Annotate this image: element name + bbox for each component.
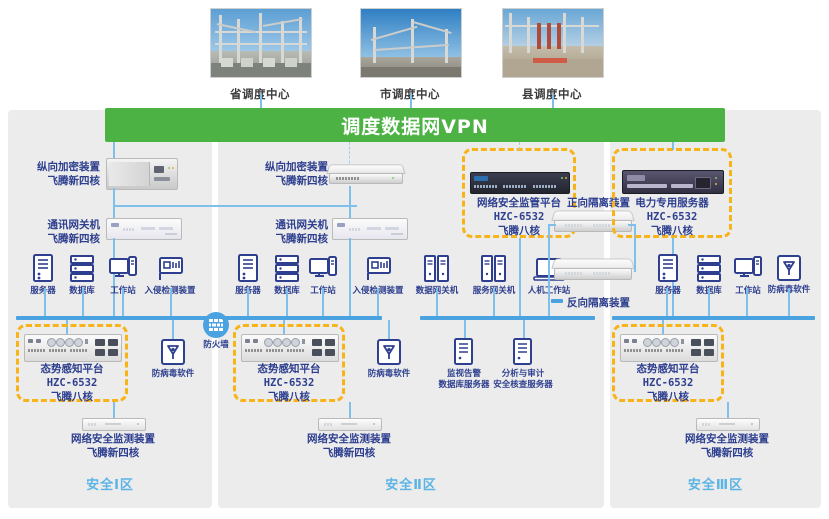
zone2-platform-appliance <box>241 334 339 362</box>
zone2-icon-service-gateway: 服务网关机 <box>480 254 520 297</box>
zone3-monitor-label: 网络安全监测装置 飞腾新四核 <box>667 432 787 460</box>
substation-photo <box>502 8 604 78</box>
zone3-icon-workstation: 工作站 <box>733 254 765 297</box>
workstation-icon <box>108 254 138 284</box>
connector-line <box>436 288 438 316</box>
server-icon <box>511 338 535 366</box>
zone1-icon-workstation: 工作站 <box>108 254 140 297</box>
connector-line <box>322 288 324 316</box>
connector-line <box>122 288 124 316</box>
dispatch-center-provincial: 省调度中心 <box>210 8 330 102</box>
server-icon <box>235 254 261 284</box>
zone1-gateway-label: 通讯网关机 飞腾新四核 <box>22 218 100 246</box>
zone1-platform-label: 态势感知平台 HZC-6532 飞腾八核 <box>16 362 128 405</box>
workstation-icon <box>308 254 338 284</box>
reverse-isolation-appliance <box>553 258 633 280</box>
zone1-encryptor-chassis <box>106 158 178 190</box>
connector-line <box>519 238 521 316</box>
zone3-icon-server: 服务器 <box>655 254 683 297</box>
zone1-gateway-appliance <box>106 218 182 240</box>
zone2-icon-ids: 入侵检测装置 <box>363 254 404 297</box>
antivirus-icon <box>375 338 403 366</box>
server-icon <box>452 338 476 366</box>
workstation-icon <box>733 254 763 284</box>
zone1-encryptor-label: 纵向加密装置 飞腾新四核 <box>22 160 100 188</box>
zone2-monitor-appliance <box>318 418 382 431</box>
zone2-bus-left <box>222 316 382 320</box>
zone3-platform-label: 态势感知平台 HZC-6532 飞腾八核 <box>612 362 724 405</box>
zone3-power-server-label: 电力专用服务器 HZC-6532 飞腾八核 <box>612 196 732 239</box>
zone2-alarm-db-server: 监视告警 数据库服务器 <box>452 338 493 390</box>
icon-label: 防病毒软件 <box>147 369 199 380</box>
dispatch-center-municipal: 市调度中心 <box>360 8 480 102</box>
icon-label: 服务器 <box>653 286 683 297</box>
connector-line <box>44 288 46 316</box>
icon-label: 防病毒软件 <box>363 369 415 380</box>
connector-line <box>672 142 674 150</box>
zone2-platform-label: 态势感知平台 HZC-6532 飞腾八核 <box>233 362 345 405</box>
server-icon <box>655 254 681 284</box>
connector-line <box>523 320 525 340</box>
zone3-monitor-appliance <box>696 418 760 431</box>
database-icon <box>273 254 301 284</box>
icon-label-alarm: 监视告警 数据库服务器 <box>435 369 493 390</box>
connector-line <box>82 288 84 316</box>
substation-photo <box>210 8 312 78</box>
zone1-monitor-label: 网络安全监测装置 飞腾新四核 <box>53 432 173 460</box>
connector-line <box>666 288 668 316</box>
connector-line <box>349 205 357 207</box>
vpn-bar: 调度数据网VPN <box>105 108 725 142</box>
database-icon <box>423 254 451 284</box>
database-icon <box>68 254 96 284</box>
zone1-monitor-appliance <box>82 418 146 431</box>
database-icon <box>695 254 723 284</box>
zone2-antivirus: 防病毒软件 <box>375 338 415 380</box>
zone-title-1: 安全Ⅰ区 <box>8 474 212 493</box>
connector-line <box>388 320 390 340</box>
ids-icon <box>363 254 393 284</box>
icon-label: 工作站 <box>731 286 765 297</box>
connector-line <box>170 288 172 316</box>
interzone-link <box>113 205 349 207</box>
zone2-icon-database: 数据库 <box>273 254 303 297</box>
zone1-antivirus: 防病毒软件 <box>159 338 199 380</box>
zone1-bus <box>16 316 208 320</box>
connector-line <box>493 288 495 316</box>
connector-line <box>464 320 466 340</box>
database-icon <box>480 254 508 284</box>
connector-line <box>708 288 710 316</box>
connector-line <box>349 238 351 316</box>
connector-line <box>377 288 379 316</box>
connector-line <box>172 320 174 340</box>
connector-line <box>113 188 115 220</box>
zone-title-3: 安全Ⅲ区 <box>610 474 821 493</box>
zone1-icon-ids: 入侵检测装置 <box>155 254 196 297</box>
dispatch-center-county: 县调度中心 <box>502 8 622 102</box>
connector-line-dashed <box>519 142 520 150</box>
zone3-power-server-appliance <box>622 170 724 194</box>
antivirus-icon <box>159 338 187 366</box>
zone2-bus-right <box>420 316 595 320</box>
zone2-monitor-label: 网络安全监测装置 飞腾新四核 <box>289 432 409 460</box>
zone3-icon-database: 数据库 <box>695 254 725 297</box>
substation-photo <box>360 8 462 78</box>
server-icon <box>30 254 56 284</box>
zone2-icon-data-gateway: 数据网关机 <box>423 254 463 297</box>
ids-icon <box>155 254 185 284</box>
zone2-audit-server: 分析与审计 安全核查服务器 <box>511 338 556 390</box>
zone2-gateway-appliance <box>332 218 408 240</box>
icon-label: 服务器 <box>28 286 58 297</box>
antivirus-icon <box>775 254 803 282</box>
zone2-icon-server: 服务器 <box>235 254 263 297</box>
connector-line <box>746 288 748 316</box>
connector-line <box>349 186 351 220</box>
connector-line <box>548 224 550 301</box>
icon-label-audit: 分析与审计 安全核查服务器 <box>490 369 556 390</box>
connector-line <box>247 288 249 316</box>
zone2-supervision-appliance <box>470 172 570 194</box>
reverse-isolation-label: 反向隔离装置 <box>567 296 657 310</box>
zone1-platform-appliance <box>24 334 122 362</box>
zone2-icon-workstation: 工作站 <box>308 254 340 297</box>
zone3-platform-appliance <box>620 334 718 362</box>
zone3-icon-antivirus: 防病毒软件 <box>775 254 815 296</box>
zone2-encryptor-label: 纵向加密装置 飞腾新四核 <box>250 160 328 188</box>
connector-line <box>788 288 790 316</box>
network-topology-diagram: 省调度中心 市调度中心 <box>0 0 829 519</box>
zone2-gateway-label: 通讯网关机 飞腾新四核 <box>250 218 328 246</box>
zone-title-2: 安全Ⅱ区 <box>218 474 604 493</box>
icon-label: 防火墙 <box>199 340 233 351</box>
zone2-encryptor-chassis <box>328 164 404 184</box>
isolation-connector <box>551 299 563 303</box>
zone3-bus <box>612 316 815 320</box>
connector-line <box>286 288 288 316</box>
